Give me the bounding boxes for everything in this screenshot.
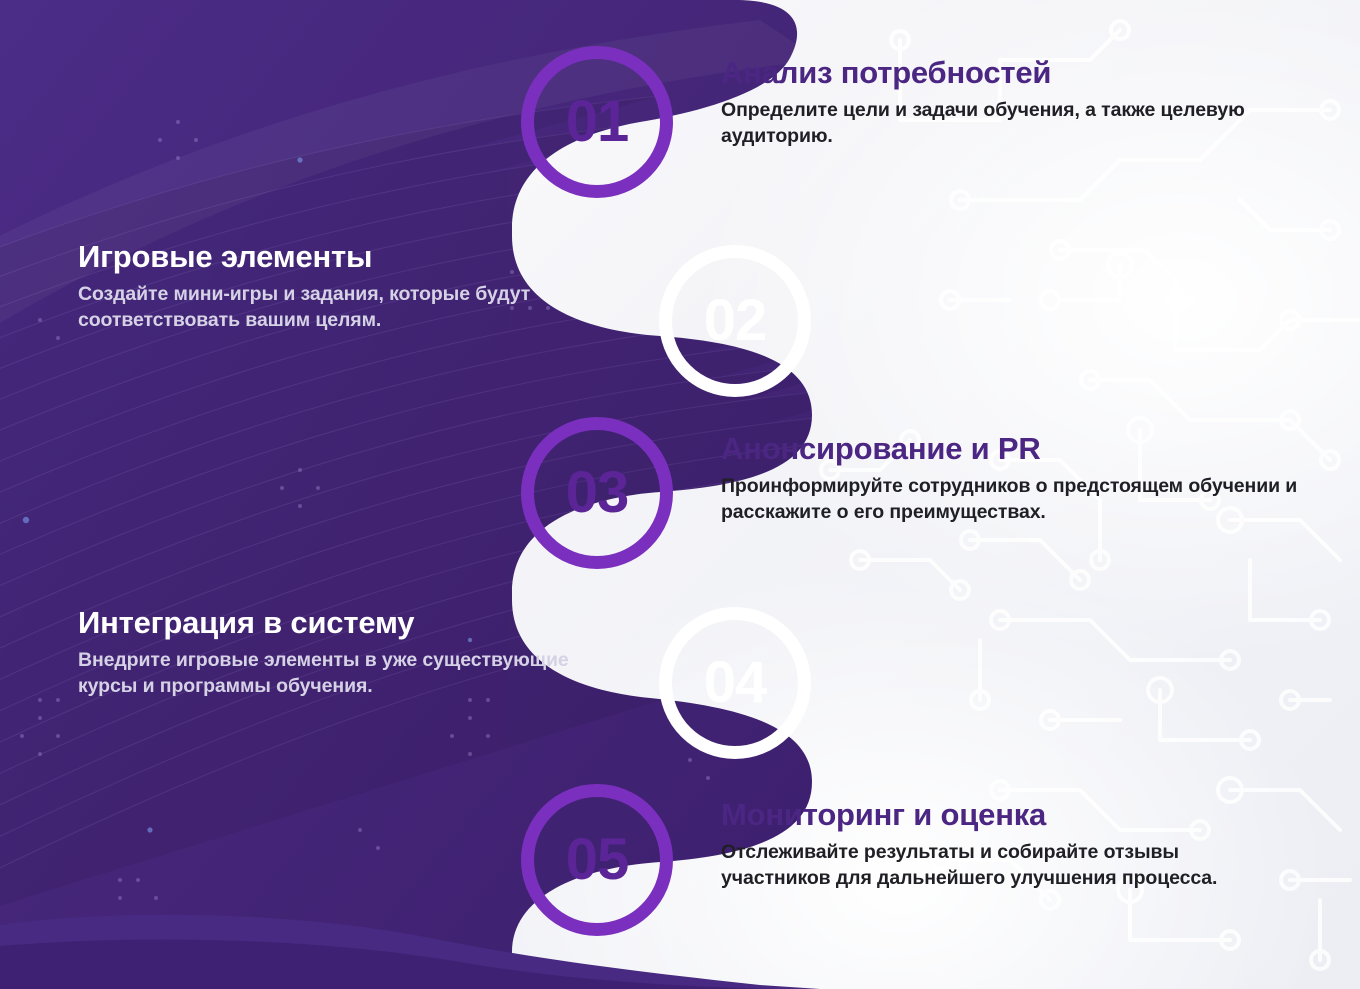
- step-badge-04: 04: [659, 607, 811, 759]
- step-number-01: 01: [566, 93, 629, 151]
- step-number-03: 03: [566, 464, 629, 522]
- step-description-01: Определите цели и задачи обучения, а так…: [721, 97, 1291, 149]
- step-description-05: Отслеживайте результаты и собирайте отзы…: [721, 839, 1291, 891]
- step-text-03: Анонсирование и PR Проинформируйте сотру…: [721, 432, 1301, 525]
- step-number-04: 04: [704, 654, 767, 712]
- step-description-04: Внедрите игровые элементы в уже существу…: [78, 647, 598, 699]
- step-title-05: Мониторинг и оценка: [721, 798, 1291, 833]
- step-description-02: Создайте мини-игры и задания, которые бу…: [78, 281, 618, 333]
- step-badge-01: 01: [521, 46, 673, 198]
- step-number-02: 02: [704, 292, 767, 350]
- step-description-03: Проинформируйте сотрудников о предстояще…: [721, 473, 1301, 525]
- step-text-02: Игровые элементы Создайте мини-игры и за…: [78, 240, 618, 333]
- step-text-05: Мониторинг и оценка Отслеживайте результ…: [721, 798, 1291, 891]
- step-text-01: Анализ потребностей Определите цели и за…: [721, 56, 1291, 149]
- step-title-04: Интеграция в систему: [78, 606, 598, 641]
- infographic-canvas: 01 Анализ потребностей Определите цели и…: [0, 0, 1360, 989]
- step-title-01: Анализ потребностей: [721, 56, 1291, 91]
- step-title-03: Анонсирование и PR: [721, 432, 1301, 467]
- step-badge-05: 05: [521, 784, 673, 936]
- step-text-04: Интеграция в систему Внедрите игровые эл…: [78, 606, 598, 699]
- step-number-05: 05: [566, 831, 629, 889]
- step-badge-02: 02: [659, 245, 811, 397]
- step-title-02: Игровые элементы: [78, 240, 618, 275]
- step-badge-03: 03: [521, 417, 673, 569]
